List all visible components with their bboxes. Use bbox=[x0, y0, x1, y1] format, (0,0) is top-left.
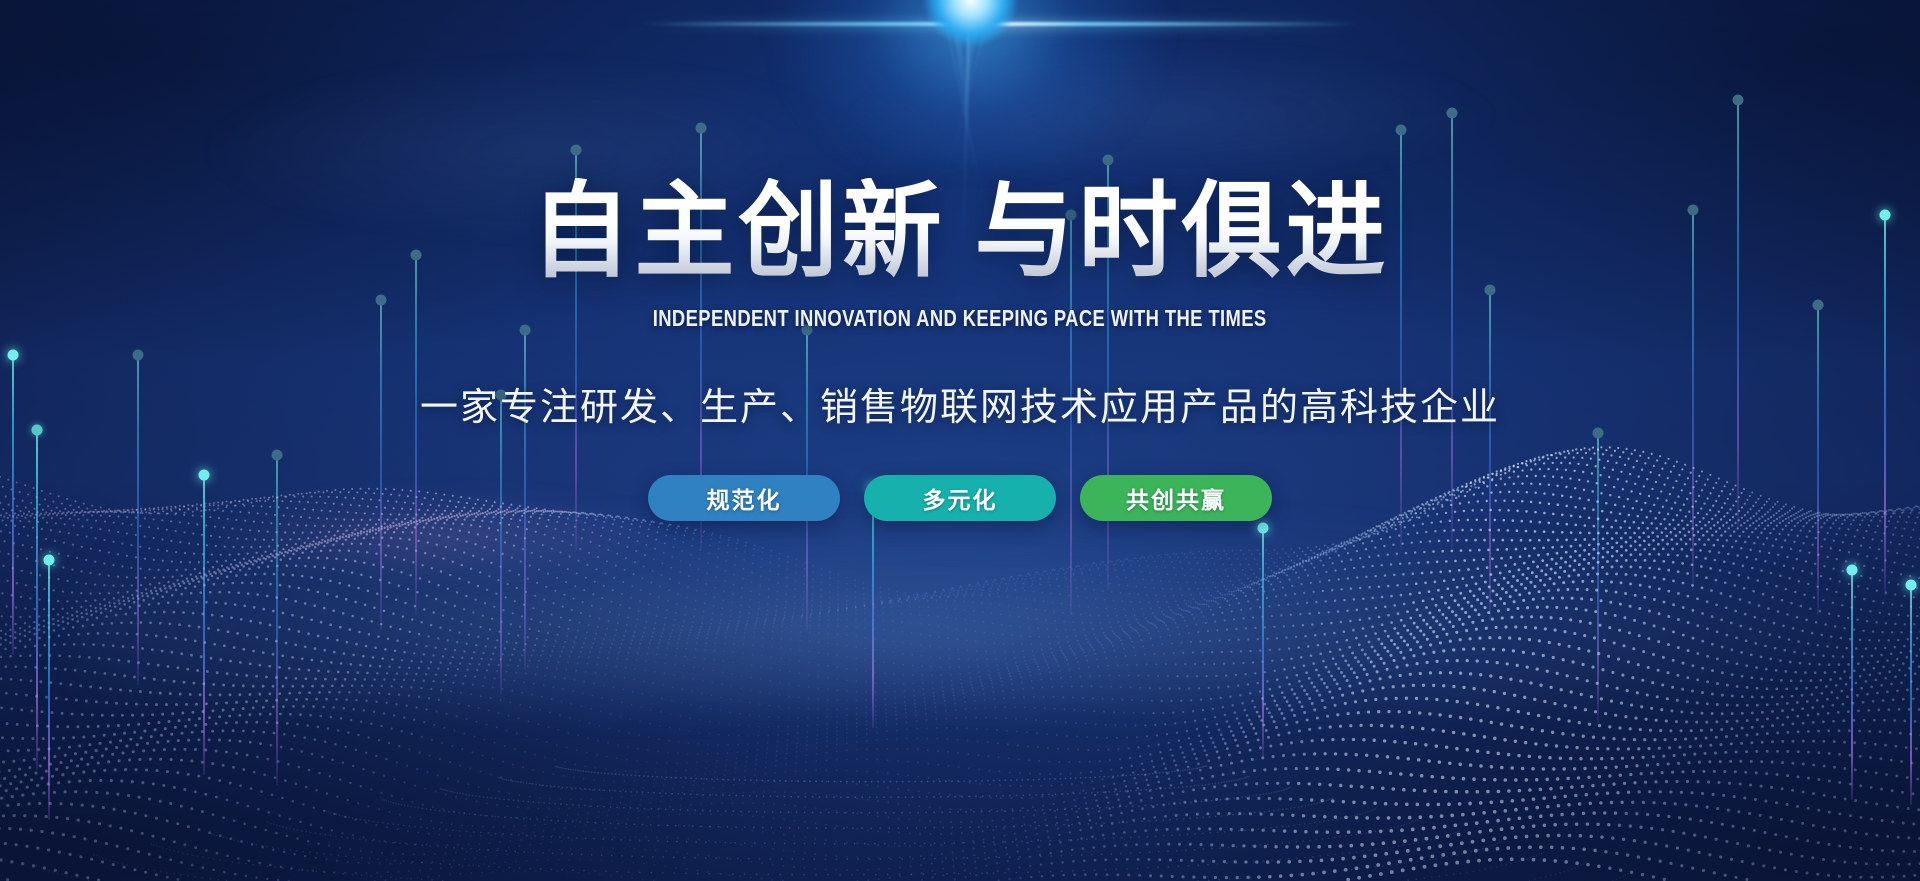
headline-part-2: 与时俱进 bbox=[974, 174, 1389, 290]
subtitle-english: INDEPENDENT INNOVATION AND KEEPING PACE … bbox=[653, 305, 1267, 332]
hero-content: 自主创新与时俱进 INDEPENDENT INNOVATION AND KEEP… bbox=[0, 0, 1920, 881]
page-title: 自主创新与时俱进 bbox=[531, 178, 1389, 287]
hero-banner: 自主创新与时俱进 INDEPENDENT INNOVATION AND KEEP… bbox=[0, 0, 1920, 881]
tagline-pill-1[interactable]: 规范化 bbox=[648, 475, 840, 521]
tagline-pill-3[interactable]: 共创共赢 bbox=[1080, 475, 1272, 521]
subtitle-chinese: 一家专注研发、生产、销售物联网技术应用产品的高科技企业 bbox=[420, 376, 1500, 431]
tagline-pill-2[interactable]: 多元化 bbox=[864, 475, 1056, 521]
tagline-pill-group: 规范化多元化共创共赢 bbox=[648, 475, 1272, 521]
headline-part-1: 自主创新 bbox=[531, 174, 946, 290]
